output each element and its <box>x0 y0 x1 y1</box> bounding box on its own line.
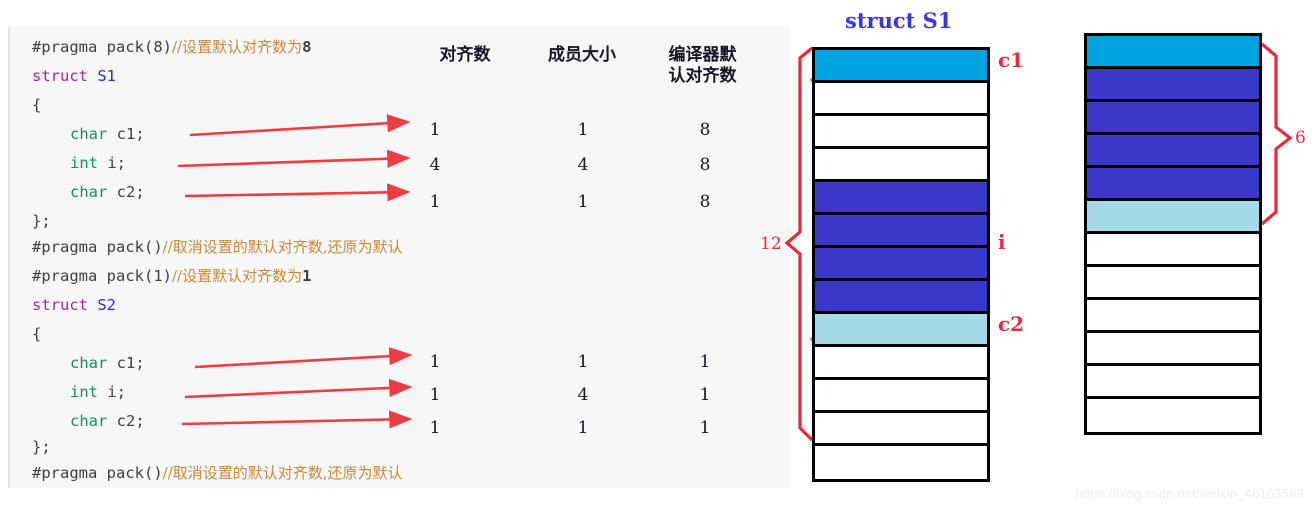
code-token: char <box>70 412 117 430</box>
code-line: char c1; <box>70 127 145 143</box>
code-block: #pragma pack(8)//设置默认对齐数为8struct S1{char… <box>8 27 790 488</box>
code-token: }; <box>32 212 51 230</box>
memory-cell <box>1087 69 1259 102</box>
code-token: { <box>32 325 41 343</box>
diagram-left-title: struct S1 <box>845 8 952 33</box>
code-token: }; <box>32 438 51 456</box>
memory-cell <box>815 182 987 215</box>
table-cell-size: 1 <box>568 120 598 140</box>
code-token: { <box>32 96 41 114</box>
memory-cell <box>815 446 987 479</box>
table-cell-default: 1 <box>690 352 720 372</box>
table-cell-size: 4 <box>568 155 598 175</box>
table-cell-default: 1 <box>690 385 720 405</box>
memory-cell <box>815 215 987 248</box>
code-token: c1; <box>117 125 145 143</box>
code-line: #pragma pack()//取消设置的默认对齐数,还原为默认 <box>32 240 403 256</box>
code-line: struct S1 <box>32 69 116 85</box>
table-cell-default: 8 <box>690 120 720 140</box>
memory-cell <box>1087 201 1259 234</box>
table-cell-size: 1 <box>568 418 598 438</box>
table-cell-size: 4 <box>568 385 598 405</box>
memory-cell <box>815 347 987 380</box>
memory-cell <box>1087 300 1259 333</box>
code-token: c2; <box>117 412 145 430</box>
diagram-right-total-label: 6 <box>1295 128 1306 148</box>
memory-cell <box>815 83 987 116</box>
code-token: 1 <box>302 267 311 285</box>
code-token: struct <box>32 67 97 85</box>
brace-left-12 <box>787 48 812 440</box>
memory-cell <box>815 248 987 281</box>
table-header-line: 编译器默 <box>645 45 760 66</box>
memory-diagram-right <box>1084 33 1262 435</box>
memory-cell <box>1087 168 1259 201</box>
table-cell-align: 1 <box>420 120 450 140</box>
table-cell-default: 8 <box>690 192 720 212</box>
code-token: int <box>70 154 107 172</box>
memory-cell <box>1087 36 1259 69</box>
code-token: //设置默认对齐数为 <box>172 267 302 285</box>
table-cell-default: 1 <box>690 418 720 438</box>
code-token: #pragma pack(8) <box>32 38 172 56</box>
table-header: 成员大小 <box>522 45 642 66</box>
code-token: //取消设置的默认对齐数,还原为默认 <box>163 238 403 256</box>
memory-cell <box>1087 366 1259 399</box>
code-line: int i; <box>70 385 126 401</box>
code-token: #pragma pack() <box>32 238 163 256</box>
memory-cell <box>1087 234 1259 267</box>
diagram-member-label: i <box>998 230 1006 254</box>
memory-cell <box>815 116 987 149</box>
code-token: i; <box>107 154 126 172</box>
code-token: char <box>70 183 117 201</box>
table-cell-align: 1 <box>420 192 450 212</box>
code-token: //取消设置的默认对齐数,还原为默认 <box>163 464 403 482</box>
code-token: c2; <box>117 183 145 201</box>
brace-right-6 <box>1262 44 1290 224</box>
code-token: i; <box>107 383 126 401</box>
table-cell-align: 1 <box>420 352 450 372</box>
memory-cell <box>1087 102 1259 135</box>
code-line: { <box>32 98 41 114</box>
code-token: struct <box>32 296 97 314</box>
table-cell-default: 8 <box>690 155 720 175</box>
memory-cell <box>815 149 987 182</box>
code-token: //设置默认对齐数为 <box>172 38 302 56</box>
code-line: #pragma pack(8)//设置默认对齐数为8 <box>32 40 311 56</box>
memory-cell <box>1087 399 1259 432</box>
table-cell-size: 1 <box>568 352 598 372</box>
code-line: }; <box>32 214 51 230</box>
code-line: { <box>32 327 41 343</box>
code-token: 8 <box>302 38 311 56</box>
table-header-line: 认对齐数 <box>645 66 760 87</box>
code-line: #pragma pack()//取消设置的默认对齐数,还原为默认 <box>32 466 403 482</box>
code-line: #pragma pack(1)//设置默认对齐数为1 <box>32 269 311 285</box>
diagram-left-total-label: 12 <box>760 234 782 254</box>
code-token: c1; <box>117 354 145 372</box>
table-cell-align: 1 <box>420 385 450 405</box>
code-line: }; <box>32 440 51 456</box>
code-token: char <box>70 125 117 143</box>
code-token: int <box>70 383 107 401</box>
table-header: 对齐数 <box>410 45 520 66</box>
code-token: S1 <box>97 67 116 85</box>
memory-cell <box>1087 135 1259 168</box>
memory-cell <box>815 413 987 446</box>
memory-cell <box>1087 333 1259 366</box>
memory-cell <box>815 314 987 347</box>
table-cell-size: 1 <box>568 192 598 212</box>
code-line: char c2; <box>70 185 145 201</box>
memory-cell <box>1087 267 1259 300</box>
code-line: char c2; <box>70 414 145 430</box>
code-line: char c1; <box>70 356 145 372</box>
code-token: S2 <box>97 296 116 314</box>
table-cell-align: 4 <box>420 155 450 175</box>
code-line: struct S2 <box>32 298 116 314</box>
memory-cell <box>815 281 987 314</box>
code-token: #pragma pack() <box>32 464 163 482</box>
watermark: https://blog.csdn.net/weixin_46103589 <box>1075 486 1304 501</box>
table-cell-align: 1 <box>420 418 450 438</box>
code-token: #pragma pack(1) <box>32 267 172 285</box>
table-header: 编译器默认对齐数 <box>645 45 760 88</box>
diagram-member-label: c1 <box>998 48 1024 72</box>
code-line: int i; <box>70 156 126 172</box>
table-header-line: 成员大小 <box>522 45 642 66</box>
diagram-member-label: c2 <box>998 312 1024 336</box>
memory-diagram-left <box>812 47 990 482</box>
memory-cell <box>815 380 987 413</box>
code-token: char <box>70 354 117 372</box>
memory-cell <box>815 50 987 83</box>
table-header-line: 对齐数 <box>410 45 520 66</box>
